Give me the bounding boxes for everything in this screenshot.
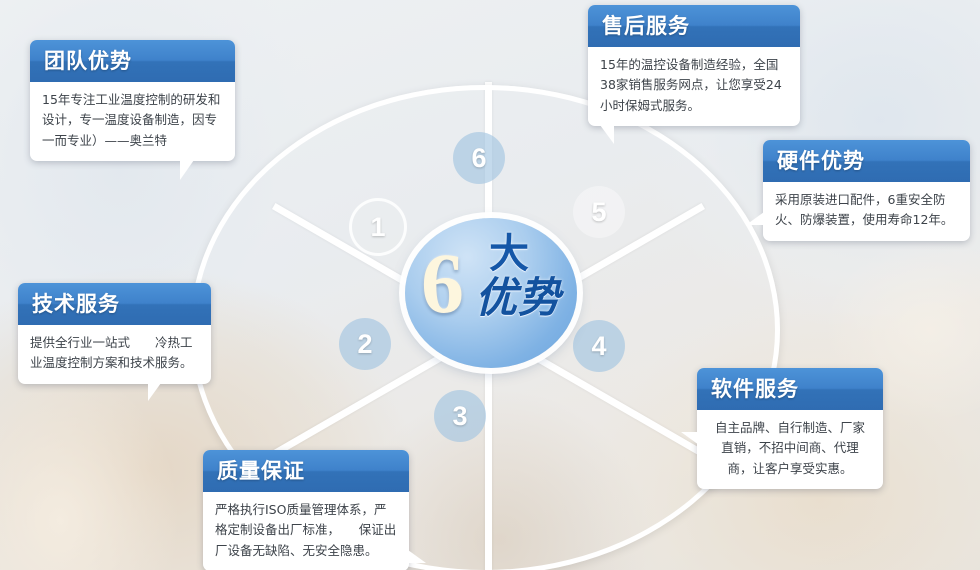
badge-5[interactable]: 5 xyxy=(573,186,625,238)
callout-tail xyxy=(148,383,161,401)
card-software-title: 软件服务 xyxy=(697,368,883,410)
center-emblem[interactable]: 6 大 优势 xyxy=(405,218,577,368)
card-quality-title: 质量保证 xyxy=(203,450,409,492)
card-tech-body: 提供全行业一站式 冷热工业温度控制方案和技术服务。 xyxy=(18,325,211,384)
card-after-sales-body: 15年的温控设备制造经验，全国38家销售服务网点，让您享受24小时保姆式服务。 xyxy=(588,47,800,126)
badge-1[interactable]: 1 xyxy=(349,198,407,256)
card-software-body: 自主品牌、自行制造、厂家直销，不招中间商、代理商，让客户享受实惠。 xyxy=(697,410,883,489)
badge-2[interactable]: 2 xyxy=(339,318,391,370)
card-team-body: 15年专注工业温度控制的研发和设计，专一温度设备制造，因专一而专业）——奥兰特 xyxy=(30,82,235,161)
card-after-sales-service[interactable]: 售后服务 15年的温控设备制造经验，全国38家销售服务网点，让您享受24小时保姆… xyxy=(588,5,800,126)
center-number: 6 xyxy=(421,240,464,326)
card-hardware-title: 硬件优势 xyxy=(763,140,970,182)
card-team-title: 团队优势 xyxy=(30,40,235,82)
infographic-stage: 1 2 3 4 5 6 6 大 优势 团队优势 15年专注工业温度控制的研发和设… xyxy=(0,0,980,570)
card-after-sales-title: 售后服务 xyxy=(588,5,800,47)
card-hardware-body: 采用原装进口配件，6重安全防火、防爆装置，使用寿命12年。 xyxy=(763,182,970,241)
center-emblem-inner: 6 大 优势 xyxy=(405,218,577,368)
badge-6[interactable]: 6 xyxy=(453,132,505,184)
card-technical-service[interactable]: 技术服务 提供全行业一站式 冷热工业温度控制方案和技术服务。 xyxy=(18,283,211,384)
callout-tail xyxy=(746,212,764,225)
center-sub-label: 优势 xyxy=(475,276,561,320)
badge-3[interactable]: 3 xyxy=(434,390,486,442)
card-quality-body: 严格执行ISO质量管理体系，严格定制设备出厂标准， 保证出厂设备无缺陷、无安全隐… xyxy=(203,492,409,570)
card-software-service[interactable]: 软件服务 自主品牌、自行制造、厂家直销，不招中间商、代理商，让客户享受实惠。 xyxy=(697,368,883,489)
badge-4[interactable]: 4 xyxy=(573,320,625,372)
card-hardware-advantage[interactable]: 硬件优势 采用原装进口配件，6重安全防火、防爆装置，使用寿命12年。 xyxy=(763,140,970,241)
center-big-label: 大 xyxy=(489,234,529,274)
card-tech-title: 技术服务 xyxy=(18,283,211,325)
card-team-advantage[interactable]: 团队优势 15年专注工业温度控制的研发和设计，专一温度设备制造，因专一而专业）—… xyxy=(30,40,235,161)
callout-tail xyxy=(681,432,699,445)
callout-tail xyxy=(408,550,426,563)
callout-tail xyxy=(600,125,614,144)
card-quality-assurance[interactable]: 质量保证 严格执行ISO质量管理体系，严格定制设备出厂标准， 保证出厂设备无缺陷… xyxy=(203,450,409,570)
callout-tail xyxy=(180,160,194,180)
